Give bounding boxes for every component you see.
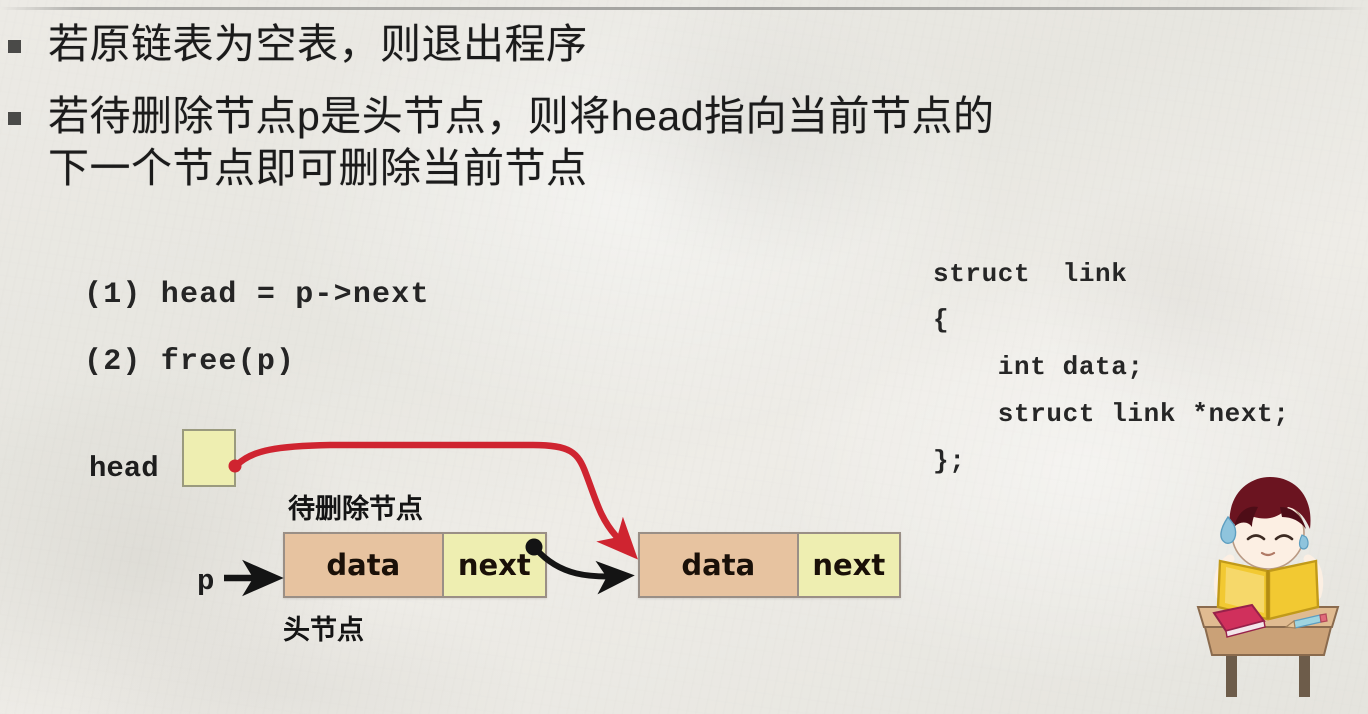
bullet-item-2-label: 若待删除节点p是头节点，则将head指向当前节点的 下一个节点即可删除当前节点 xyxy=(48,90,995,194)
square-bullet-icon xyxy=(8,40,21,53)
bullet-item-1: 若原链表为空表，则退出程序 xyxy=(0,18,1368,78)
slide-canvas: 若原链表为空表，则退出程序 若待删除节点p是头节点，则将head指向当前节点的 … xyxy=(0,0,1368,714)
struct-code-line-4: struct link *next; xyxy=(933,399,1289,429)
struct-code-line-3: int data; xyxy=(933,352,1144,382)
head-pointer-box xyxy=(182,429,236,487)
head-pointer-label: head xyxy=(89,452,159,485)
code-step-1: (1) head = p->next xyxy=(84,278,430,312)
bullet-item-2: 若待删除节点p是头节点，则将head指向当前节点的 下一个节点即可删除当前节点 xyxy=(0,90,1368,210)
label-head-node: 头节点 xyxy=(283,608,364,647)
black-next-pointer-arrow xyxy=(536,549,624,577)
top-divider-line xyxy=(0,7,1368,10)
node-1-data-cell: data xyxy=(285,534,442,596)
bullet-item-1-label: 若原链表为空表，则退出程序 xyxy=(48,18,588,70)
node-2-data-cell: data xyxy=(640,534,797,596)
student-reading-at-desk-illustration xyxy=(1168,455,1368,705)
linked-list-node-2: data next xyxy=(638,532,901,598)
node-1-next-cell: next xyxy=(442,534,545,596)
struct-code-line-5: }; xyxy=(933,446,965,476)
struct-code-line-1: struct link xyxy=(933,259,1127,289)
node-2-next-cell: next xyxy=(797,534,899,596)
code-step-2: (2) free(p) xyxy=(84,345,295,379)
linked-list-node-1: data next xyxy=(283,532,547,598)
label-node-to-delete: 待删除节点 xyxy=(288,487,423,526)
square-bullet-icon xyxy=(8,112,21,125)
sweat-drop-right-icon xyxy=(1300,535,1309,549)
p-pointer-label: p xyxy=(197,565,214,598)
struct-code-line-2: { xyxy=(933,305,949,335)
